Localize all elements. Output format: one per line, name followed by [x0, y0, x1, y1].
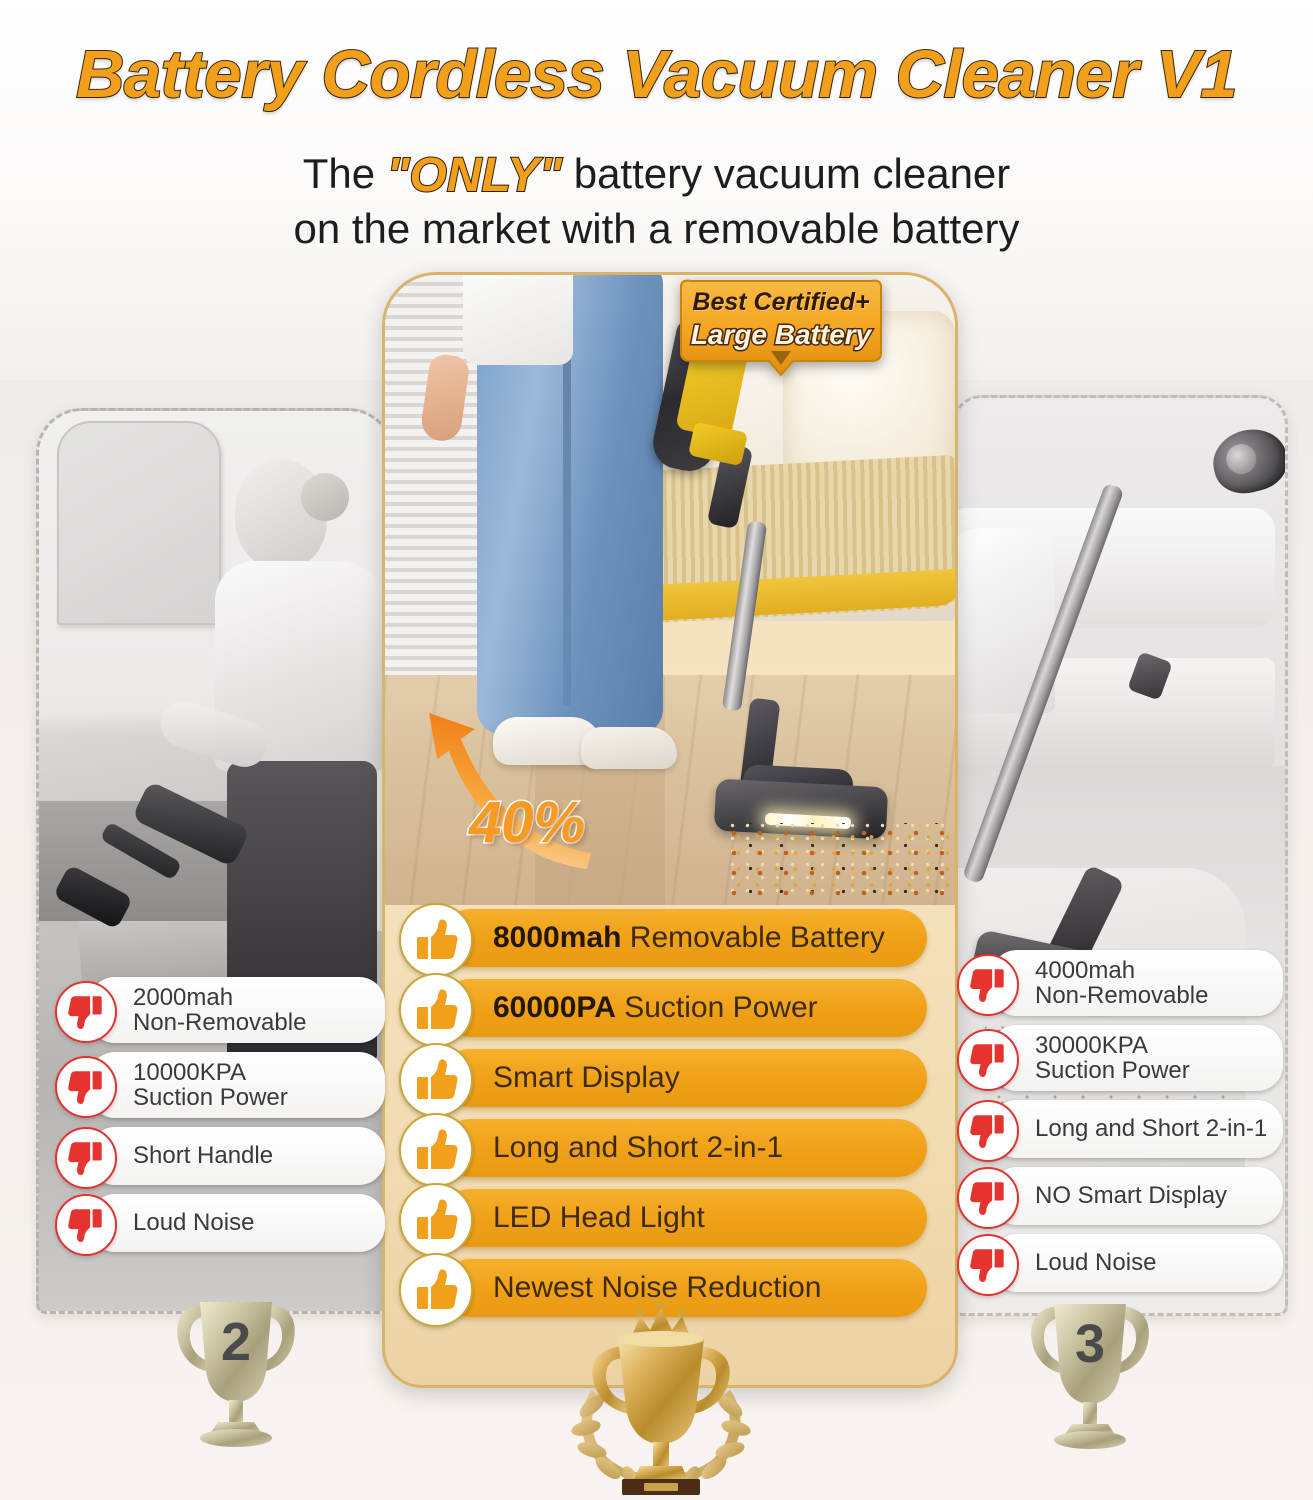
thumbs-down-badge: [957, 1029, 1019, 1091]
con-pill: 2000mahNon-Removable: [89, 977, 385, 1043]
thumbs-down-icon: [969, 1041, 1007, 1079]
subtitle-highlight-only: "ONLY": [387, 148, 562, 203]
feature-label: Smart Display: [441, 1061, 680, 1095]
con-pill: 30000KPASuction Power: [991, 1025, 1283, 1091]
con-label-line-2: Suction Power: [1035, 1058, 1190, 1083]
con-pill: Loud Noise: [991, 1234, 1283, 1292]
badge-line-2: Large Battery: [675, 319, 887, 351]
feature-label: Long and Short 2-in-1: [441, 1131, 783, 1165]
con-label: 2000mahNon-Removable: [89, 980, 316, 1041]
center-photo-crumbs: [721, 823, 955, 899]
feature-pill: Smart Display: [441, 1049, 927, 1107]
thumbs-down-badge: [957, 1234, 1019, 1296]
con-row: Short Handle: [55, 1127, 385, 1185]
feature-list: 8000mah Removable Battery60000PA Suction…: [399, 903, 941, 1323]
thumbs-down-icon: [67, 1068, 105, 1106]
con-row: NO Smart Display: [957, 1167, 1283, 1225]
trophy-rank-3: 3: [1020, 1290, 1160, 1460]
con-label: 10000KPASuction Power: [89, 1055, 298, 1116]
thumbs-down-badge: [957, 954, 1019, 1016]
con-row: 10000KPASuction Power: [55, 1052, 385, 1118]
thumbs-down-icon: [969, 1246, 1007, 1284]
con-label: 30000KPASuction Power: [991, 1028, 1200, 1089]
thumbs-down-badge: [55, 1127, 117, 1189]
con-row: 4000mahNon-Removable: [957, 950, 1283, 1016]
con-row: 2000mahNon-Removable: [55, 977, 385, 1043]
subtitle-line-2: on the market with a removable battery: [0, 205, 1313, 253]
competitor-right-panel: 4000mahNon-Removable30000KPASuction Powe…: [952, 395, 1288, 1316]
feature-pill: 60000PA Suction Power: [441, 979, 927, 1037]
con-pill: 4000mahNon-Removable: [991, 950, 1283, 1016]
trophy-2-rank-number: 2: [221, 1312, 251, 1372]
feature-pill: 8000mah Removable Battery: [441, 909, 927, 967]
thumbs-down-icon: [969, 1112, 1007, 1150]
trophy-3-rank-number: 3: [1075, 1314, 1105, 1374]
con-row: 30000KPASuction Power: [957, 1025, 1283, 1091]
thumbs-up-icon: [413, 1197, 459, 1243]
thumbs-up-icon: [413, 917, 459, 963]
con-pill: Long and Short 2-in-1: [991, 1100, 1283, 1158]
con-label-line-2: Suction Power: [133, 1085, 288, 1110]
badge-line-1: Best Certified+: [675, 288, 887, 317]
trophy-rank-2: 2: [166, 1288, 306, 1458]
thumbs-down-badge: [957, 1167, 1019, 1229]
left-photo-person-hair: [301, 473, 349, 521]
feature-spec-value: 8000mah: [493, 921, 621, 954]
competitor-left-panel: 2000mahNon-Removable10000KPASuction Powe…: [36, 408, 394, 1314]
thumbs-down-icon: [67, 1139, 105, 1177]
left-photo-mirror: [57, 421, 221, 625]
thumbs-up-badge: [399, 973, 473, 1047]
best-certified-badge: Best Certified+ Large Battery: [675, 275, 887, 383]
feature-label: 8000mah Removable Battery: [441, 921, 885, 955]
subtitle-line-1: The "ONLY" battery vacuum cleaner: [0, 148, 1313, 203]
thumbs-down-icon: [67, 993, 105, 1031]
thumbs-down-badge: [55, 1194, 117, 1256]
trophy-rank-1-winner: [556, 1302, 766, 1498]
con-row: Long and Short 2-in-1: [957, 1100, 1283, 1158]
thumbs-up-badge: [399, 1253, 473, 1327]
feature-row: 60000PA Suction Power: [399, 973, 941, 1042]
con-label-line-2: Non-Removable: [133, 1010, 306, 1035]
feature-row: 8000mah Removable Battery: [399, 903, 941, 972]
page-title: Battery Cordless Vacuum Cleaner V1: [0, 36, 1313, 113]
feature-pill: LED Head Light: [441, 1189, 927, 1247]
con-pill: Short Handle: [89, 1127, 385, 1185]
thumbs-down-icon: [969, 966, 1007, 1004]
thumbs-down-badge: [55, 1056, 117, 1118]
con-row: Loud Noise: [957, 1234, 1283, 1292]
thumbs-up-icon: [413, 1127, 459, 1173]
con-label: 4000mahNon-Removable: [991, 953, 1218, 1014]
feature-label: Newest Noise Reduction: [441, 1271, 822, 1305]
improvement-percentage: 40%: [469, 789, 585, 856]
con-label: NO Smart Display: [991, 1178, 1237, 1213]
thumbs-down-badge: [957, 1100, 1019, 1162]
con-label-line-2: Non-Removable: [1035, 983, 1208, 1008]
feature-pill: Long and Short 2-in-1: [441, 1119, 927, 1177]
feature-row: Long and Short 2-in-1: [399, 1113, 941, 1182]
con-pill: Loud Noise: [89, 1194, 385, 1252]
feature-spec-value: 60000PA: [493, 991, 616, 1024]
infographic-root: Battery Cordless Vacuum Cleaner V1 The "…: [0, 0, 1313, 1500]
thumbs-down-icon: [67, 1206, 105, 1244]
center-photo-shirt: [463, 275, 573, 365]
con-row: Loud Noise: [55, 1194, 385, 1252]
con-label: Short Handle: [89, 1138, 283, 1173]
featured-product-panel: Best Certified+ Large Battery: [382, 272, 958, 1388]
thumbs-up-badge: [399, 1113, 473, 1187]
right-cons-list: 4000mahNon-Removable30000KPASuction Powe…: [957, 950, 1283, 1301]
thumbs-down-icon: [969, 1179, 1007, 1217]
con-pill: 10000KPASuction Power: [89, 1052, 385, 1118]
thumbs-up-icon: [413, 1267, 459, 1313]
subtitle-part-2: battery vacuum cleaner: [574, 150, 1011, 197]
thumbs-up-badge: [399, 1043, 473, 1117]
con-label: Long and Short 2-in-1: [991, 1111, 1277, 1146]
feature-row: LED Head Light: [399, 1183, 941, 1252]
feature-row: Smart Display: [399, 1043, 941, 1112]
feature-label: 60000PA Suction Power: [441, 991, 818, 1025]
thumbs-up-badge: [399, 1183, 473, 1257]
con-pill: NO Smart Display: [991, 1167, 1283, 1225]
thumbs-down-badge: [55, 981, 117, 1043]
thumbs-up-icon: [413, 1057, 459, 1103]
feature-label: LED Head Light: [441, 1201, 705, 1235]
thumbs-up-badge: [399, 903, 473, 977]
left-cons-list: 2000mahNon-Removable10000KPASuction Powe…: [55, 977, 385, 1261]
thumbs-up-icon: [413, 987, 459, 1033]
subtitle-part-1: The: [303, 150, 375, 197]
